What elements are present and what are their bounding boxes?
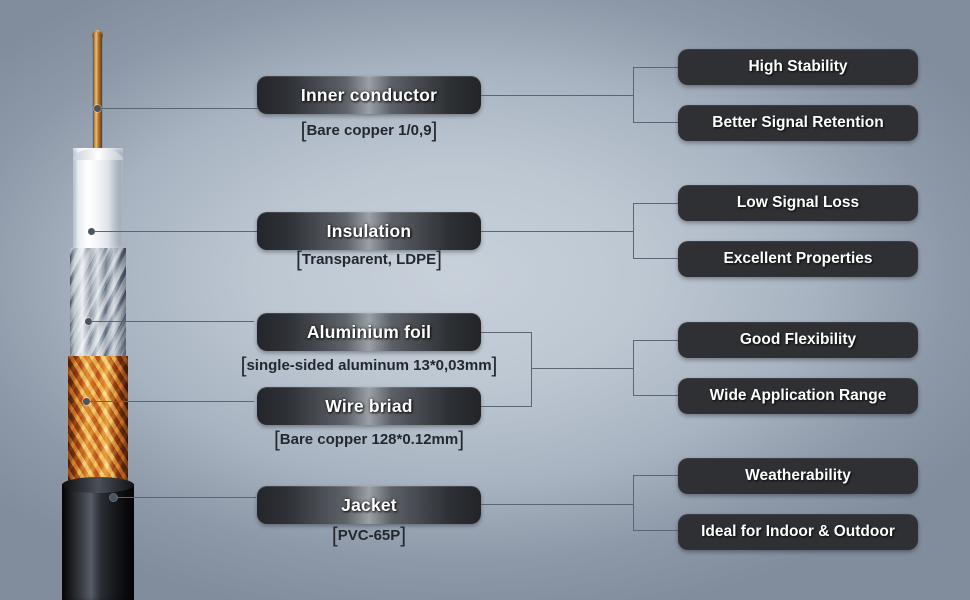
jacket-layer [62,484,134,600]
layer-spec-jacket: [PVC-65P] [257,524,481,548]
bracket-stem-group-2 [481,231,633,232]
layer-pill-label: Inner conductor [301,85,437,106]
benefit-pill-label: Excellent Properties [723,250,872,268]
layer-spec-text: Transparent, LDPE [302,251,436,268]
bracket-merge-spine-group-3 [531,332,532,407]
bracket-arm-group-2-a [633,203,678,204]
benefit-pill-excellent-properties[interactable]: Excellent Properties [678,241,918,277]
layer-pill-wire-braid[interactable]: Wire briad [257,387,481,425]
leader-line-wire-braid [89,401,254,402]
benefit-pill-label: Better Signal Retention [712,114,883,132]
bracket-merge-arm-braid [481,406,531,407]
benefit-pill-label: Ideal for Indoor & Outdoor [701,523,895,541]
benefit-pill-high-stability[interactable]: High Stability [678,49,918,85]
benefit-pill-low-signal-loss[interactable]: Low Signal Loss [678,185,918,221]
bracket-stem-group-3 [531,368,633,369]
layer-spec-wire-braid: [Bare copper 128*0.12mm] [257,428,481,452]
layer-pill-label: Jacket [341,495,397,516]
leader-line-jacket [116,497,256,498]
benefit-pill-wide-application-range[interactable]: Wide Application Range [678,378,918,414]
benefit-pill-label: High Stability [748,58,847,76]
bracket-spine-group-1 [633,67,634,123]
bracket-close: ] [492,354,498,377]
bracket-arm-group-4-b [633,530,678,531]
bracket-stem-group-1 [481,95,633,96]
bracket-spine-group-4 [633,475,634,531]
bracket-close: ] [400,524,406,547]
layer-spec-text: Bare copper 1/0,9 [306,122,431,139]
benefit-pill-label: Good Flexibility [740,331,856,349]
layer-pill-jacket[interactable]: Jacket [257,486,481,524]
layer-pill-inner-conductor[interactable]: Inner conductor [257,76,481,114]
layer-pill-insulation[interactable]: Insulation [257,212,481,250]
layer-spec-text: single-sided aluminum 13*0,03mm [246,357,491,374]
bracket-close: ] [432,119,438,142]
aluminium-foil-layer [70,248,126,356]
bracket-arm-group-1-b [633,122,678,123]
layer-pill-aluminium-foil[interactable]: Aluminium foil [257,313,481,351]
benefit-pill-label: Wide Application Range [710,387,887,405]
layer-pill-label: Wire briad [325,396,412,417]
bracket-arm-group-4-a [633,475,678,476]
leader-line-inner-conductor [100,108,258,109]
benefit-pill-good-flexibility[interactable]: Good Flexibility [678,322,918,358]
insulation-layer [73,148,123,248]
coaxial-cable-illustration [0,0,200,600]
benefit-pill-weatherability[interactable]: Weatherability [678,458,918,494]
layer-pill-label: Aluminium foil [307,322,431,343]
benefit-pill-label: Low Signal Loss [737,194,859,212]
layer-spec-text: Bare copper 128*0.12mm [280,431,458,448]
benefit-pill-label: Weatherability [745,467,851,485]
bracket-arm-group-1-a [633,67,678,68]
bracket-merge-arm-foil [481,332,531,333]
leader-line-aluminium-foil [91,321,254,322]
diagram-canvas: Inner conductor [Bare copper 1/0,9] Insu… [0,0,970,600]
layer-spec-aluminium-foil: [single-sided aluminum 13*0,03mm] [227,354,511,378]
leader-line-insulation [94,231,258,232]
benefit-pill-ideal-indoor-outdoor[interactable]: Ideal for Indoor & Outdoor [678,514,918,550]
layer-spec-inner-conductor: [Bare copper 1/0,9] [257,119,481,143]
bracket-close: ] [436,248,442,271]
layer-spec-text: PVC-65P [338,527,401,544]
bracket-arm-group-3-b [633,395,678,396]
layer-pill-label: Insulation [327,221,412,242]
bracket-spine-group-3 [633,340,634,396]
bracket-stem-group-4 [481,504,633,505]
wire-braid-layer [68,356,128,492]
layer-spec-insulation: [Transparent, LDPE] [257,248,481,272]
bracket-arm-group-2-b [633,258,678,259]
benefit-pill-better-signal-retention[interactable]: Better Signal Retention [678,105,918,141]
bracket-spine-group-2 [633,203,634,259]
bracket-close: ] [458,428,464,451]
bracket-arm-group-3-a [633,340,678,341]
